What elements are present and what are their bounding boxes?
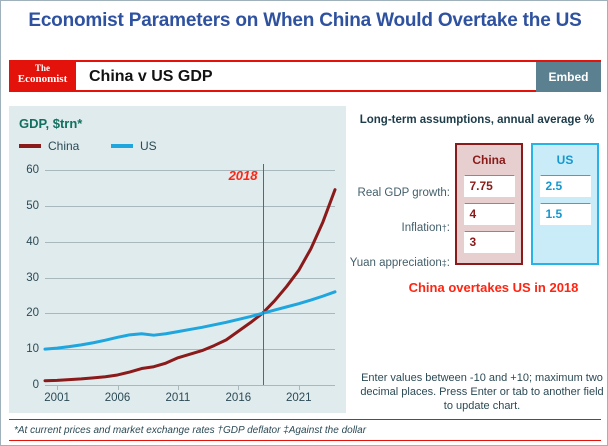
chart-unit-label: GDP, $trn* [19, 116, 82, 131]
logo-line-2: Economist [9, 74, 76, 85]
series-line-china [45, 190, 335, 381]
y-axis-tick-label: 20 [26, 307, 39, 319]
x-axis-tick-mark [118, 385, 119, 390]
legend-item-china: China [19, 138, 79, 154]
y-axis-tick-label: 50 [26, 200, 39, 212]
assumptions-title: Long-term assumptions, annual average % [351, 114, 603, 126]
chart-panel: GDP, $trn* China US 01020304050602001200… [9, 106, 346, 413]
marker-label-2018: 2018 [229, 168, 258, 183]
footnote-mark-icon: ‡ [442, 258, 447, 268]
legend-swatch-china-icon [19, 144, 41, 148]
china-input-column: China 7.7543 [455, 143, 523, 265]
legend-label-china: China [48, 139, 79, 153]
x-axis-tick-label: 2011 [166, 392, 191, 404]
x-axis-tick-mark [299, 385, 300, 390]
plot-area: 0102030405060200120062011201620212018 [45, 170, 335, 385]
parameter-label-2: Inflation†: [346, 210, 450, 245]
logo-line-1: The [9, 64, 76, 73]
parameter-label-1: Real GDP growth: [346, 175, 450, 210]
x-axis-tick-label: 2001 [44, 392, 70, 404]
y-axis-tick-label: 0 [33, 379, 39, 391]
economist-logo: The Economist [9, 62, 76, 92]
footnote: *At current prices and market exchange r… [9, 419, 601, 441]
china-input-2[interactable]: 4 [464, 203, 515, 225]
footnote-mark-icon: † [442, 223, 447, 233]
instructions-text: Enter values between -10 and +10; maximu… [359, 371, 605, 413]
page-title: Economist Parameters on When China Would… [1, 9, 608, 32]
parameter-label-3: Yuan appreciation‡: [346, 245, 450, 280]
y-axis-tick-label: 30 [26, 272, 39, 284]
parameter-labels: Real GDP growth:Inflation†:Yuan apprecia… [346, 143, 450, 280]
x-axis-tick-label: 2021 [286, 392, 312, 404]
x-axis-tick-mark [57, 385, 58, 390]
chart-widget: Economist Parameters on When China Would… [0, 0, 608, 446]
marker-line-2018 [263, 164, 265, 385]
legend-item-us: US [111, 138, 157, 154]
us-input-column: US 2.51.5 [531, 143, 599, 265]
y-axis-tick-label: 60 [26, 164, 39, 176]
x-axis-tick-label: 2016 [226, 392, 252, 404]
y-axis-tick-label: 10 [26, 343, 39, 355]
series-line-us [45, 292, 335, 349]
gridline [45, 385, 335, 386]
header-bar: The Economist China v US GDP Embed [9, 60, 601, 92]
us-column-header: US [533, 145, 597, 175]
us-input-2[interactable]: 1.5 [540, 203, 591, 225]
overtake-message: China overtakes US in 2018 [381, 279, 606, 296]
embed-button[interactable]: Embed [536, 62, 601, 92]
x-axis-tick-label: 2006 [105, 392, 131, 404]
china-input-1[interactable]: 7.75 [464, 175, 515, 197]
china-input-3[interactable]: 3 [464, 231, 515, 253]
x-axis-tick-mark [238, 385, 239, 390]
y-axis-tick-label: 40 [26, 236, 39, 248]
x-axis-tick-mark [178, 385, 179, 390]
series-lines [45, 170, 335, 385]
chart-title: China v US GDP [89, 62, 213, 92]
china-column-header: China [457, 145, 521, 175]
legend-label-us: US [140, 139, 157, 153]
legend-swatch-us-icon [111, 144, 133, 148]
us-input-1[interactable]: 2.5 [540, 175, 591, 197]
